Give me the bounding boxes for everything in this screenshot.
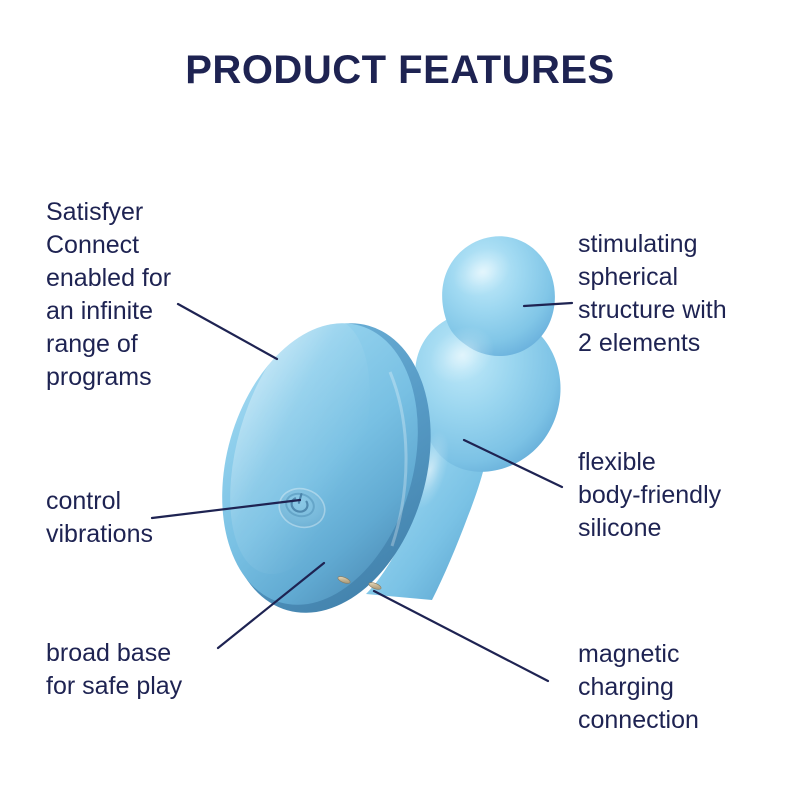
leader-line-spherical [524, 303, 572, 306]
leader-line-silicone [464, 440, 562, 487]
leader-line-control [152, 500, 300, 518]
leader-line-connect [178, 304, 277, 359]
leader-line-magnetic [374, 591, 548, 681]
leader-line-base [218, 563, 324, 648]
leader-lines [0, 0, 800, 800]
product-features-infographic: PRODUCT FEATURES [0, 0, 800, 800]
